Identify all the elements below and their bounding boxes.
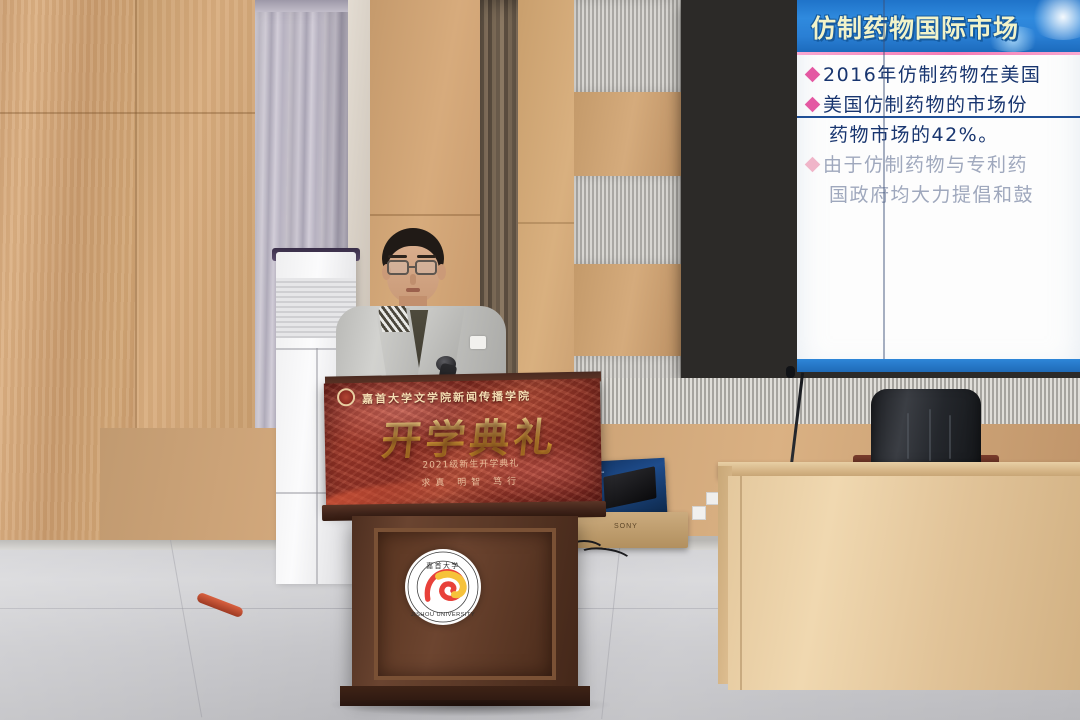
diamond-bullet-icon: [805, 97, 821, 113]
slide-bullet-line: 2016年仿制药物在美国: [807, 60, 1080, 90]
slide-continuation-line: 药物市场的42%。: [807, 120, 1080, 150]
slide-bullet-text: 药物市场的42%。: [829, 120, 999, 150]
speaking-podium: 嘉首大学 JISHOU UNIVERSITY: [352, 516, 578, 694]
slide-bullet-text: 2016年仿制药物在美国: [823, 60, 1041, 90]
wall-seam: [0, 112, 258, 114]
slide-title-underline: [797, 52, 1080, 55]
tan-panel: [574, 264, 684, 356]
lecture-hall-photo: 仿制药物国际市场 2016年仿制药物在美国 美国仿制药物的市场份 药物市场的42…: [0, 0, 1080, 720]
tan-panel: [574, 92, 684, 176]
slide-body: 2016年仿制药物在美国 美国仿制药物的市场份 药物市场的42%。 由于仿制药物…: [797, 56, 1080, 210]
slide-footer-bar: [797, 359, 1080, 372]
glasses-icon: [387, 260, 409, 275]
eyebrow: [388, 255, 407, 258]
podium-shadow: [330, 700, 610, 716]
ac-seam: [316, 348, 318, 584]
slide-divider: [797, 116, 1080, 118]
wall-seam: [370, 214, 482, 216]
product-box-artwork: [603, 466, 656, 509]
executive-chair: [871, 389, 981, 473]
ribbed-panel: [574, 0, 684, 92]
slide-continuation-line-faded: 国政府均大力提倡和鼓: [807, 180, 1080, 210]
presentation-slide: 仿制药物国际市场 2016年仿制药物在美国 美国仿制药物的市场份 药物市场的42…: [797, 0, 1080, 372]
striped-collar: [378, 306, 411, 332]
mouth: [406, 288, 420, 292]
svg-text:JISHOU UNIVERSITY: JISHOU UNIVERSITY: [411, 612, 475, 618]
wall-outlet: [692, 506, 706, 520]
slide-title: 仿制药物国际市场: [811, 9, 1019, 45]
cardboard-box-label: SONY: [614, 523, 638, 530]
diamond-bullet-icon: [805, 67, 821, 83]
glasses-bridge: [409, 266, 415, 268]
slide-fold-line: [883, 0, 885, 372]
banner-subtitle: 2021级新生开学典礼: [383, 455, 558, 471]
school-seal-icon: [337, 388, 355, 406]
banner-school-line: 嘉首大学文学院新闻传播学院: [362, 388, 531, 407]
svg-text:嘉首大学: 嘉首大学: [426, 561, 459, 570]
ear: [437, 264, 446, 280]
name-badge: [470, 336, 486, 349]
banner-footer-line: 求真 明智 笃行: [384, 473, 559, 489]
nose: [410, 274, 416, 285]
slide-bullet-text: 由于仿制药物与专利药: [823, 150, 1028, 180]
eyebrow: [417, 255, 436, 258]
slide-bullet-text: 国政府均大力提倡和鼓: [829, 180, 1034, 210]
university-emblem: 嘉首大学 JISHOU UNIVERSITY: [405, 549, 481, 625]
ceremony-banner: 嘉首大学文学院新闻传播学院 开学典礼 2021级新生开学典礼 求真 明智 笃行: [324, 378, 602, 510]
ribbed-panel: [574, 176, 684, 264]
diamond-bullet-icon: [805, 157, 821, 173]
gooseneck-microphone-head: [786, 366, 795, 378]
glasses-icon: [415, 260, 437, 275]
slide-bullet-line-faded: 由于仿制药物与专利药: [807, 150, 1080, 180]
presidium-desk-front: [728, 476, 1080, 690]
curtain-rail: [255, 0, 353, 12]
